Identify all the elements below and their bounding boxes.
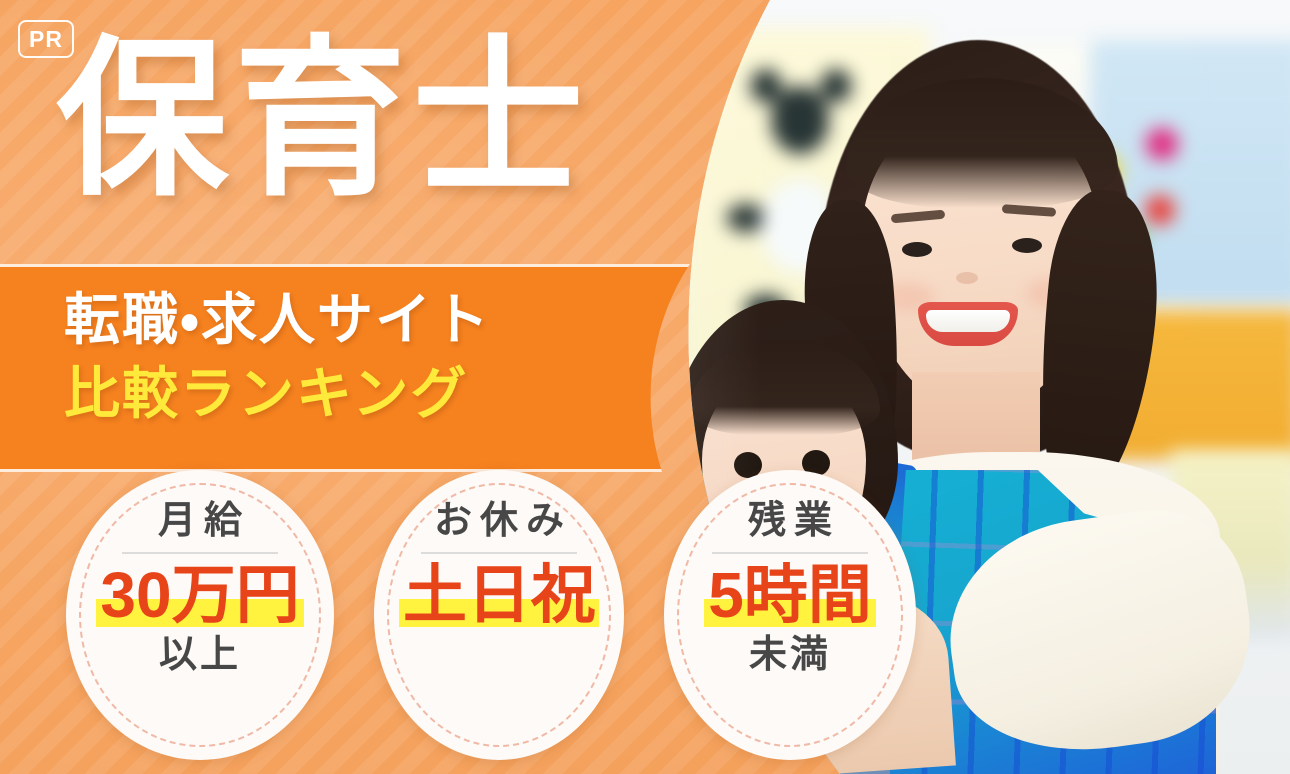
feature-value: 土日祝	[403, 559, 595, 631]
feature-suffix: 以上	[159, 635, 241, 677]
feature-heading: 残業	[740, 502, 840, 542]
woman-eye-right	[1012, 238, 1042, 253]
feature-divider	[122, 552, 278, 554]
feature-badge-salary[interactable]: 月給 30万円 以上	[66, 470, 334, 760]
feature-value: 30万円	[100, 559, 299, 631]
woman-teeth	[926, 310, 1010, 332]
subtitle-banner: 転職・求人サイト 比較ランキング	[0, 264, 690, 472]
feature-value-wrap: 30万円	[96, 558, 303, 634]
page-title: 保育士	[56, 28, 590, 214]
woman-eye-left	[902, 242, 932, 257]
feature-badge-holidays[interactable]: お休み 土日祝	[374, 470, 624, 760]
feature-badges: 月給 30万円 以上 お休み 土日祝 残業 5時間 未満	[66, 470, 916, 774]
subtitle-line-1: 転職・求人サイト	[64, 283, 690, 357]
subtitle-line-2: 比較ランキング	[64, 357, 690, 431]
feature-divider	[421, 552, 577, 554]
woman-nose	[956, 272, 978, 284]
feature-badge-overtime[interactable]: 残業 5時間 未満	[664, 470, 916, 760]
feature-value-wrap: 5時間	[704, 558, 876, 634]
feature-value-wrap: 土日祝	[399, 558, 599, 634]
feature-suffix: 未満	[749, 635, 831, 677]
pr-label: PR	[29, 26, 63, 53]
feature-divider	[712, 552, 868, 554]
pr-badge: PR	[18, 20, 74, 58]
feature-value: 5時間	[708, 559, 872, 631]
feature-heading: 月給	[150, 502, 250, 542]
ad-banner[interactable]: PR 保育士 転職・求人サイト 比較ランキング 月給 30万円 以上 お休み 土…	[0, 0, 1290, 774]
feature-heading: お休み	[426, 502, 572, 542]
